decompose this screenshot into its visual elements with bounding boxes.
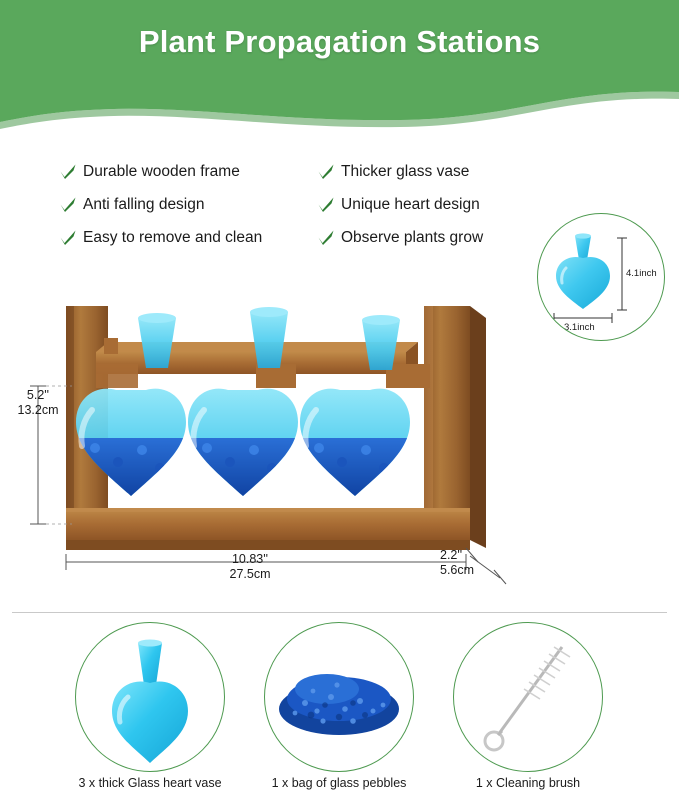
feature-label: Easy to remove and clean bbox=[83, 229, 262, 247]
feature-label: Unique heart design bbox=[341, 196, 480, 214]
header-banner: Plant Propagation Stations bbox=[0, 0, 679, 132]
width-dimension-label: 10.83'' 27.5cm bbox=[170, 552, 330, 582]
glass-heart-vase-icon bbox=[76, 623, 224, 771]
feature-label: Observe plants grow bbox=[341, 229, 483, 247]
feature-item: Observe plants grow bbox=[316, 224, 566, 251]
height-dimension-label: 5.2'' 13.2cm bbox=[14, 388, 62, 418]
feature-label: Durable wooden frame bbox=[83, 163, 240, 181]
feature-item: Anti falling design bbox=[58, 191, 318, 218]
product-infographic: Plant Propagation Stations Durable woode… bbox=[0, 0, 679, 809]
included-item-caption: 1 x Cleaning brush bbox=[423, 776, 633, 790]
depth-dimension-cm: 5.6cm bbox=[440, 563, 474, 577]
page-title: Plant Propagation Stations bbox=[0, 24, 679, 60]
check-icon bbox=[58, 162, 78, 182]
feature-item: Thicker glass vase bbox=[316, 158, 566, 185]
product-photo bbox=[0, 290, 679, 600]
glass-pebbles-circle bbox=[264, 622, 414, 772]
included-item-vase: 3 x thick Glass heart vase bbox=[75, 622, 225, 772]
check-icon bbox=[316, 162, 336, 182]
height-dimension-cm: 13.2cm bbox=[18, 403, 59, 417]
feature-item: Unique heart design bbox=[316, 191, 566, 218]
included-item-caption: 1 x bag of glass pebbles bbox=[234, 776, 444, 790]
section-divider bbox=[12, 612, 667, 613]
feature-label: Anti falling design bbox=[83, 196, 205, 214]
check-icon bbox=[316, 195, 336, 215]
feature-item: Durable wooden frame bbox=[58, 158, 318, 185]
glass-pebbles-icon bbox=[265, 623, 413, 771]
width-dimension-cm: 27.5cm bbox=[230, 567, 271, 581]
depth-dimension-label: 2.2'' 5.6cm bbox=[440, 548, 532, 578]
width-dimension-inch: 10.83'' bbox=[232, 552, 268, 566]
depth-dimension-inch: 2.2'' bbox=[440, 548, 462, 562]
check-icon bbox=[58, 228, 78, 248]
included-item-pebbles: 1 x bag of glass pebbles bbox=[264, 622, 414, 772]
propagation-station-illustration bbox=[0, 290, 679, 600]
included-item-brush: 1 x Cleaning brush bbox=[453, 622, 603, 772]
feature-item: Easy to remove and clean bbox=[58, 224, 318, 251]
cleaning-brush-icon bbox=[454, 623, 602, 771]
cleaning-brush-circle bbox=[453, 622, 603, 772]
included-items-row: 3 x thick Glass heart vase bbox=[0, 622, 679, 809]
included-item-caption: 3 x thick Glass heart vase bbox=[45, 776, 255, 790]
glass-heart-vase-circle bbox=[75, 622, 225, 772]
feature-column-right: Thicker glass vase Unique heart design O… bbox=[316, 158, 566, 257]
vase-height-label: 4.1inch bbox=[626, 268, 657, 279]
feature-label: Thicker glass vase bbox=[341, 163, 469, 181]
feature-column-left: Durable wooden frame Anti falling design… bbox=[58, 158, 318, 257]
check-icon bbox=[316, 228, 336, 248]
height-dimension-inch: 5.2'' bbox=[27, 388, 49, 402]
header-wave-shape bbox=[0, 0, 679, 132]
check-icon bbox=[58, 195, 78, 215]
